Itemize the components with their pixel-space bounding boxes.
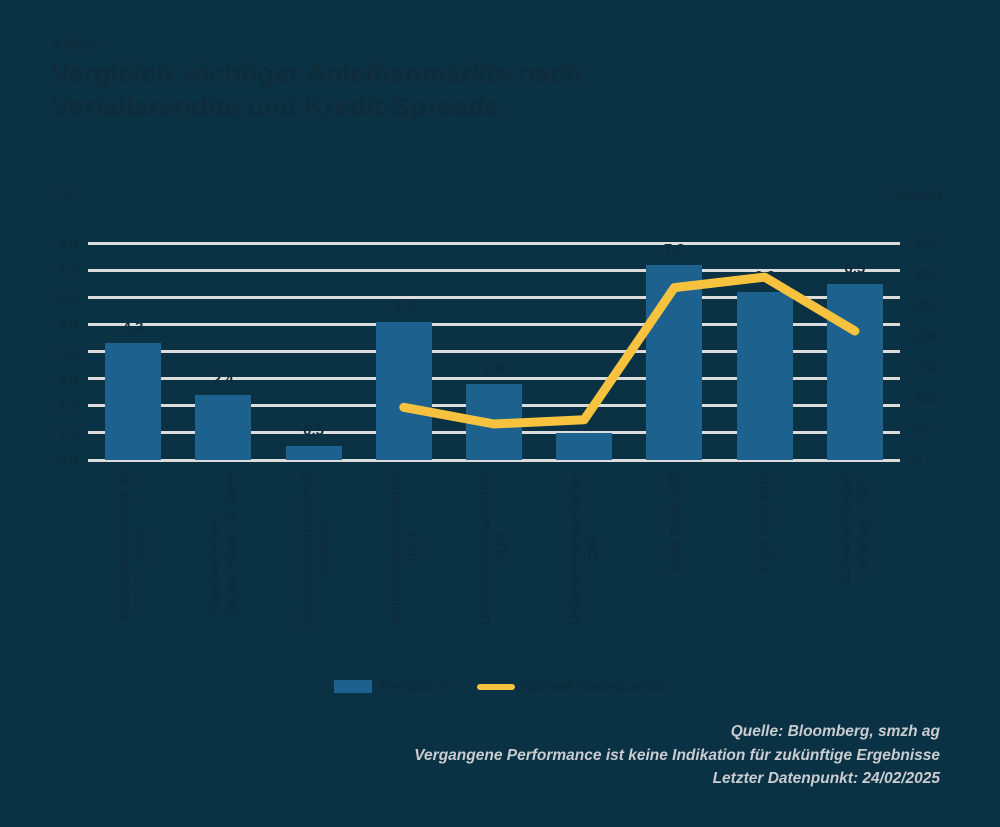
y-tick-left: 5,0 [59, 318, 78, 330]
x-axis-category-text: UnternehmensanleihenEUR [477, 470, 511, 625]
x-axis-category-line: Anleihen USD [855, 470, 872, 585]
x-axis-category-line: Unternehmensanleihen [567, 470, 584, 625]
x-axis-category-text: UnternehmensanleihenCHF [567, 470, 601, 625]
legend-swatch-line-icon [477, 684, 515, 690]
bar[interactable]: 0,5 [286, 446, 342, 460]
x-axis-category-line: Unternehmensanleihen [477, 470, 494, 625]
figure-label: ABB.2 [52, 34, 752, 56]
y-tick-left: 8,0 [59, 237, 78, 249]
x-axis-category-line: High Yield USD [666, 470, 683, 571]
bar[interactable]: 6,5 [827, 284, 883, 460]
bar[interactable]: 6,2 [737, 292, 793, 460]
x-axis-category-text: High Yield USD [666, 470, 683, 571]
bar[interactable]: 4,3 [105, 343, 161, 460]
y-tick-left: 0,0 [59, 454, 78, 466]
y-tick-left: 4,0 [59, 346, 78, 358]
legend-swatch-bar-icon [334, 680, 372, 693]
x-axis-category: Staatsanleihen USA 10Jahre [88, 470, 178, 670]
y-tick-left: 2,0 [59, 400, 78, 412]
legend-label-rendite: Rendite % [379, 678, 452, 695]
x-axis-category-text: Staatsanleihen USA 10Jahre [116, 470, 150, 621]
bar-slot: 2,8 [449, 243, 539, 460]
x-axis-category-text: UnternehmensanleihenUSD [387, 470, 421, 625]
x-axis-category: UnternehmensanleihenEUR [449, 470, 539, 670]
page-title: Vergleich wichtiger Anleihenmärkte nach … [52, 56, 752, 124]
x-axis-category: High Yield USD [629, 470, 719, 670]
x-axis-category: StaatsanleihenDeutschland 10 Jahre [178, 470, 268, 670]
y-axis-label-right: Spread [891, 186, 942, 203]
chart-legend: Rendite % Spread Basispunkte [0, 678, 1000, 695]
x-axis-category: Staatsanleihen Schweiz10 Jahre [268, 470, 358, 670]
x-axis-category: Schwellenländer-Anleihen USD [810, 470, 900, 670]
bar-slot: 0,5 [268, 243, 358, 460]
x-axis-category: UnternehmensanleihenCHF [539, 470, 629, 670]
chart-page: { "header": { "figure_label": "ABB.2", "… [0, 0, 1000, 827]
bar-value-label: 7,2 [664, 241, 685, 258]
bar[interactable]: 2,8 [466, 384, 522, 460]
x-axis-category-line: 10 Jahre [314, 470, 331, 628]
bar-value-label: 6,2 [754, 268, 775, 285]
footnote-last-update: Letzter Datenpunkt: 24/02/2025 [60, 767, 940, 791]
y-tick-left: 3,0 [59, 373, 78, 385]
chart-header: ABB.2 Vergleich wichtiger Anleihenmärkte… [52, 34, 752, 124]
x-axis-category-line: Staatsanleihen USA 10 [116, 470, 133, 621]
x-axis-category-line: USD [404, 470, 421, 625]
y-tick-right: 100 [914, 392, 937, 404]
y-tick-right: 350 [914, 237, 937, 249]
x-axis-category-text: Staatsanleihen Schweiz10 Jahre [297, 470, 331, 628]
bar-value-label: 2,8 [484, 360, 505, 377]
y-tick-right: 300 [914, 268, 937, 280]
bar-value-label: 2,4 [213, 371, 234, 388]
bar-value-label: 5,1 [393, 298, 414, 315]
bar-slot: 7,2 [629, 243, 719, 460]
x-axis-category-line: Deutschland 10 Jahre [223, 470, 240, 615]
footnote-source: Quelle: Bloomberg, smzh ag [60, 720, 940, 744]
plot-area: 0,01,02,03,04,05,06,07,08,0 050100150200… [88, 243, 900, 460]
x-axis-category-line: Schwellenländer- [838, 470, 855, 585]
x-axis-category-labels: Staatsanleihen USA 10JahreStaatsanleihen… [88, 470, 900, 670]
y-tick-right: 200 [914, 330, 937, 342]
x-axis-category-line: High Yield EUR [756, 470, 773, 571]
bar[interactable]: 1,0 [556, 433, 612, 460]
bar[interactable]: 2,4 [195, 395, 251, 460]
bar-slot: 2,4 [178, 243, 268, 460]
bar-slot: 6,5 [810, 243, 900, 460]
x-axis-category-text: StaatsanleihenDeutschland 10 Jahre [206, 470, 240, 615]
footnote-disclaimer: Vergangene Performance ist keine Indikat… [60, 744, 940, 768]
y-tick-right: 150 [914, 361, 937, 373]
x-axis-category-line: Staatsanleihen [206, 470, 223, 615]
bar-slot: 1,0 [539, 243, 629, 460]
chart-area: % Spread 0,01,02,03,04,05,06,07,08,0 050… [0, 186, 1000, 476]
y-tick-right: 0 [914, 454, 922, 466]
x-axis-category-line: Staatsanleihen Schweiz [297, 470, 314, 628]
x-axis-category-text: High Yield EUR [756, 470, 773, 571]
bar-slot: 6,2 [720, 243, 810, 460]
bar[interactable]: 7,2 [646, 265, 702, 460]
x-axis-category: High Yield EUR [720, 470, 810, 670]
x-axis-category-text: Schwellenländer-Anleihen USD [838, 470, 872, 585]
y-tick-left: 1,0 [59, 427, 78, 439]
page-title-line-2: Verfallsrendite und Kredit-Spreads [52, 90, 752, 124]
y-axis-label-left: % [60, 186, 73, 203]
x-axis-category-line: CHF [584, 470, 601, 625]
x-axis-category-line: Unternehmensanleihen [387, 470, 404, 625]
legend-item-spread[interactable]: Spread Basispunkte [477, 678, 666, 695]
y-tick-left: 7,0 [59, 264, 78, 276]
x-axis-category-line: Jahre [133, 470, 150, 621]
bar-slot: 4,3 [88, 243, 178, 460]
page-title-line-1: Vergleich wichtiger Anleihenmärkte nach [52, 56, 752, 90]
legend-item-rendite[interactable]: Rendite % [334, 678, 452, 695]
y-tick-left: 6,0 [59, 291, 78, 303]
bar-series: 4,32,40,55,12,81,07,26,26,5 [88, 243, 900, 460]
bar-slot: 5,1 [359, 243, 449, 460]
chart-footnotes: Quelle: Bloomberg, smzh ag Vergangene Pe… [60, 720, 940, 791]
bar-value-label: 4,3 [123, 319, 144, 336]
bar-value-label: 0,5 [303, 422, 324, 439]
bar[interactable]: 5,1 [376, 322, 432, 460]
x-axis-category: UnternehmensanleihenUSD [359, 470, 449, 670]
legend-label-spread: Spread Basispunkte [522, 678, 666, 695]
bar-value-label: 6,5 [844, 260, 865, 277]
y-tick-right: 50 [914, 423, 930, 435]
x-axis-category-line: EUR [494, 470, 511, 625]
bar-value-label: 1,0 [574, 409, 595, 426]
y-tick-right: 250 [914, 299, 937, 311]
